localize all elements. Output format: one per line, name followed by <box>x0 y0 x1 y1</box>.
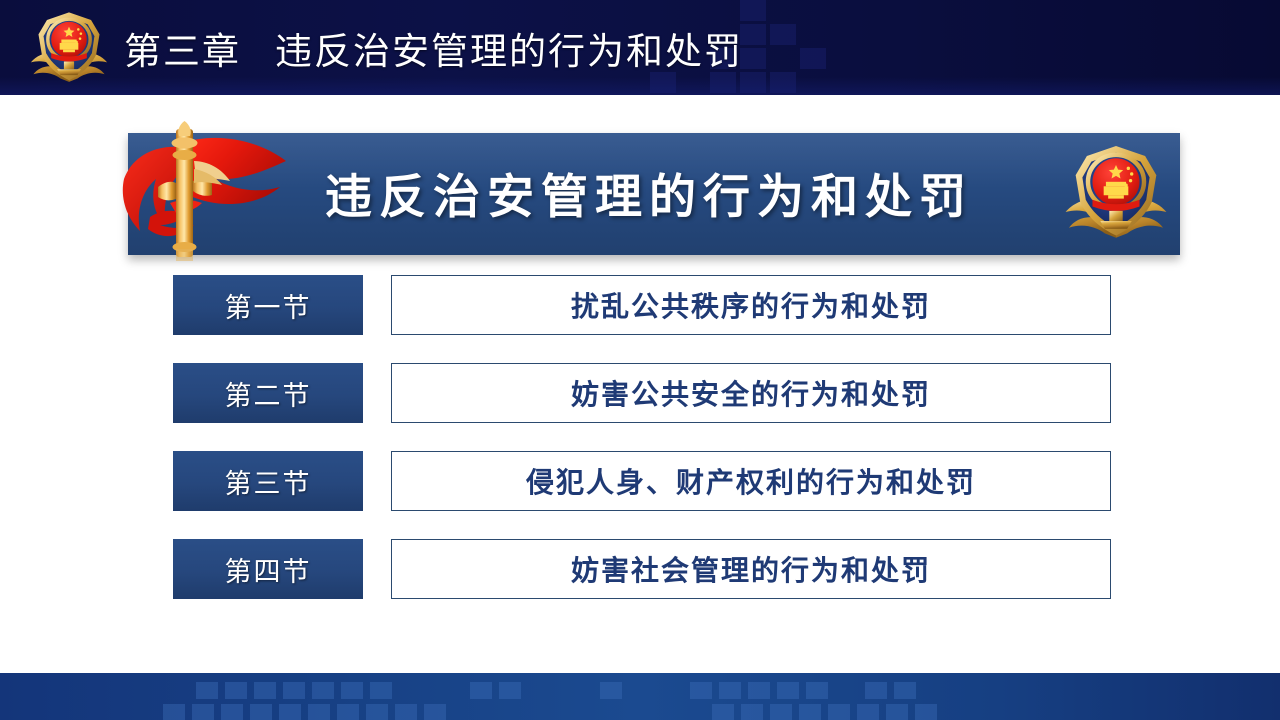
section-list: 第一节扰乱公共秩序的行为和处罚第二节妨害公共安全的行为和处罚第三节侵犯人身、财产… <box>0 275 1280 599</box>
banner-title-text: 违反治安管理的行为和处罚 <box>128 158 1180 227</box>
section-row: 第三节侵犯人身、财产权利的行为和处罚 <box>0 451 1280 511</box>
section-title-label: 妨害社会管理的行为和处罚 <box>571 549 931 589</box>
footer-bar <box>0 673 1280 720</box>
police-badge-icon <box>26 9 112 87</box>
section-row: 第四节妨害社会管理的行为和处罚 <box>0 539 1280 599</box>
section-title-box-1[interactable]: 扰乱公共秩序的行为和处罚 <box>391 275 1111 335</box>
section-tag-label: 第三节 <box>225 462 312 501</box>
chapter-title-text: 违反治安管理的行为和处罚 <box>275 30 743 73</box>
section-title-box-3[interactable]: 侵犯人身、财产权利的行为和处罚 <box>391 451 1111 511</box>
section-title-box-4[interactable]: 妨害社会管理的行为和处罚 <box>391 539 1111 599</box>
section-tag-label: 第四节 <box>225 550 312 589</box>
section-title-box-2[interactable]: 妨害公共安全的行为和处罚 <box>391 363 1111 423</box>
slide-root: 第三章违反治安管理的行为和处罚 违反治安管理的行为和处罚 <box>0 0 1280 720</box>
section-row: 第一节扰乱公共秩序的行为和处罚 <box>0 275 1280 335</box>
police-badge-icon <box>1060 139 1172 247</box>
section-tag-label: 第二节 <box>225 374 312 413</box>
page-title: 第三章违反治安管理的行为和处罚 <box>124 21 743 75</box>
section-title-label: 妨害公共安全的行为和处罚 <box>571 373 931 413</box>
title-banner: 违反治安管理的行为和处罚 <box>128 133 1180 255</box>
section-title-label: 扰乱公共秩序的行为和处罚 <box>571 285 931 325</box>
section-row: 第二节妨害公共安全的行为和处罚 <box>0 363 1280 423</box>
header-bottom-fade <box>0 77 1280 95</box>
section-tag-2[interactable]: 第二节 <box>173 363 363 423</box>
section-tag-4[interactable]: 第四节 <box>173 539 363 599</box>
header-bar: 第三章违反治安管理的行为和处罚 <box>0 0 1280 95</box>
section-title-label: 侵犯人身、财产权利的行为和处罚 <box>526 461 976 501</box>
chapter-label: 第三章 <box>124 30 241 73</box>
title-banner-background: 违反治安管理的行为和处罚 <box>128 133 1180 255</box>
section-tag-3[interactable]: 第三节 <box>173 451 363 511</box>
section-tag-label: 第一节 <box>225 286 312 325</box>
section-tag-1[interactable]: 第一节 <box>173 275 363 335</box>
